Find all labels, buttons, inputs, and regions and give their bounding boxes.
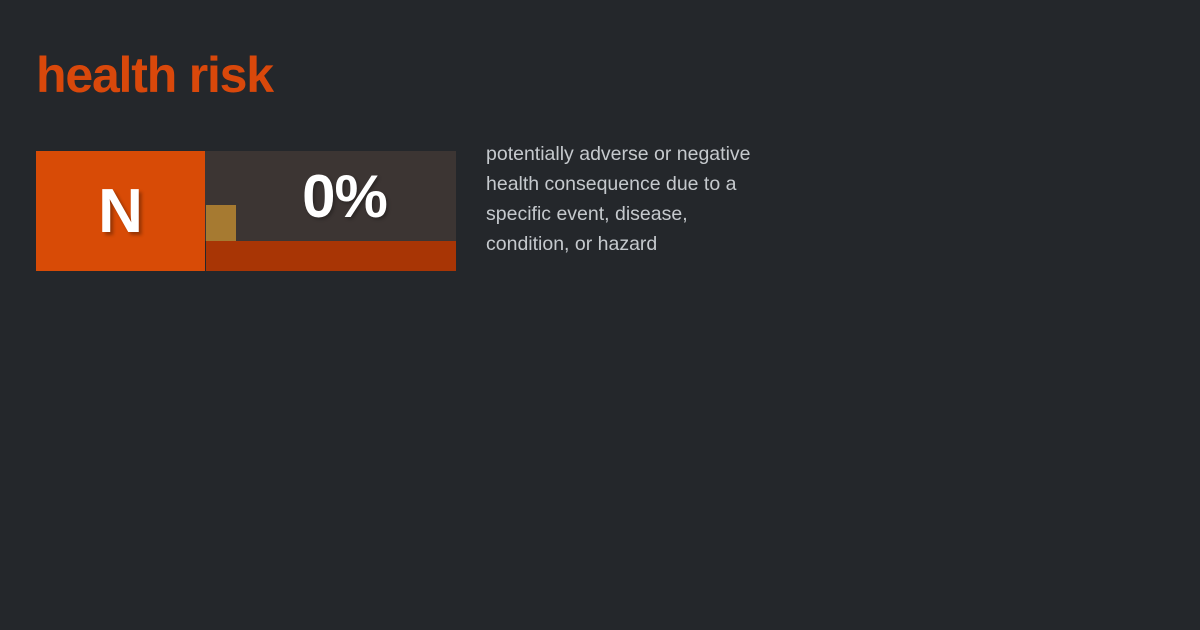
definition-line: specific event, disease, [486, 199, 806, 229]
progress-bar [206, 241, 456, 271]
definition-line: condition, or hazard [486, 229, 806, 259]
page-title: health risk [36, 50, 273, 100]
definition-line: potentially adverse or negative [486, 139, 806, 169]
definition-text: potentially adverse or negative health c… [486, 139, 806, 259]
page-canvas: health risk N 0% potentially adverse or … [0, 0, 1200, 630]
health-risk-card: N 0% [36, 151, 456, 271]
letter-badge-block: N [36, 151, 205, 271]
stat-value-percent: 0% [205, 151, 456, 241]
letter-badge-glyph: N [36, 151, 205, 271]
definition-line: health consequence due to a [486, 169, 806, 199]
